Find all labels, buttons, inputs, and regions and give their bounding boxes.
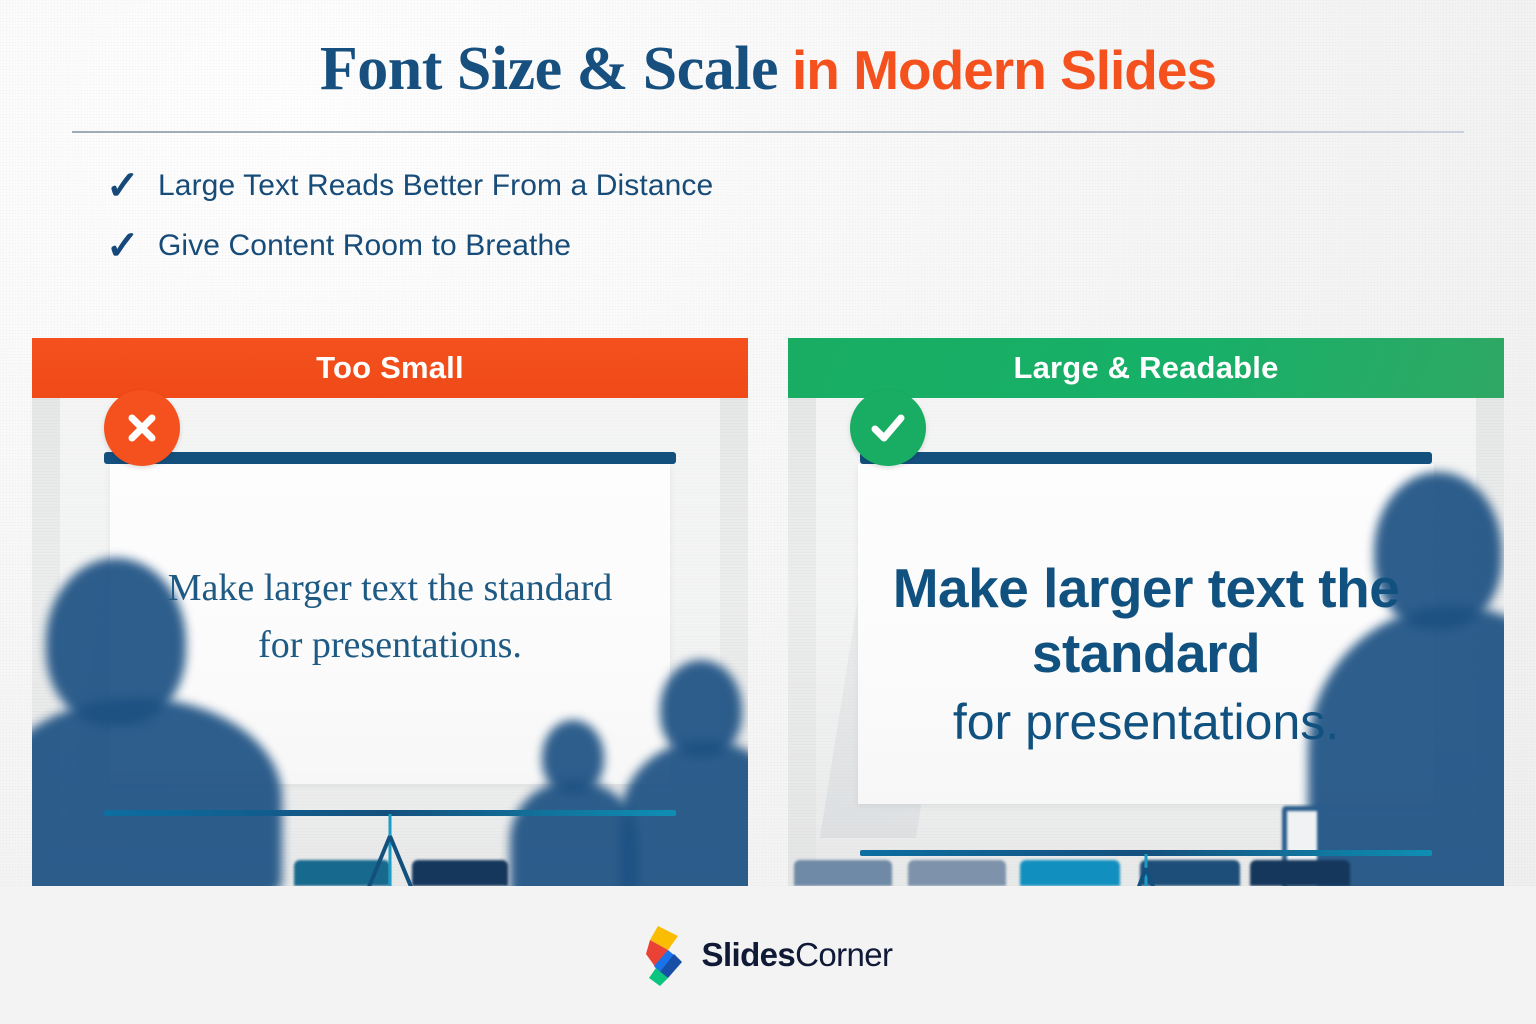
footer-section: SlidesCorner xyxy=(0,886,1536,1024)
laptop-shape xyxy=(794,860,892,886)
close-icon xyxy=(122,408,162,448)
laptop-shape xyxy=(1020,860,1120,886)
slide-text-bold: Make larger text the standard xyxy=(888,556,1404,686)
laptop-shape xyxy=(412,860,508,886)
title-part-primary: Font Size & Scale xyxy=(320,35,778,103)
panel-left-photo: Make larger text the standard for presen… xyxy=(32,398,748,886)
panel-large-readable: Large & Readable Make larger text the st… xyxy=(788,338,1504,886)
check-icon: ✓ xyxy=(106,226,158,266)
laptop-shape xyxy=(908,860,1006,886)
tripod-icon xyxy=(360,814,420,886)
cross-badge xyxy=(104,390,180,466)
list-item: ✓ Large Text Reads Better From a Distanc… xyxy=(106,166,713,206)
list-item: ✓ Give Content Room to Breathe xyxy=(106,226,713,266)
screen-top-bar xyxy=(104,452,676,464)
slidescorner-logo-icon xyxy=(644,924,686,986)
slide-text-small: Make larger text the standard for presen… xyxy=(32,560,748,674)
page-title: Font Size & Scalein Modern Slides xyxy=(0,34,1536,105)
panel-right-heading: Large & Readable xyxy=(788,338,1504,398)
comparison-panels: Too Small Make larger text the standard … xyxy=(0,338,1536,886)
brand-name-primary: Slides xyxy=(702,936,796,973)
brand-name: SlidesCorner xyxy=(702,936,893,974)
panel-right-photo: Make larger text the standard for presen… xyxy=(788,398,1504,886)
check-icon xyxy=(866,406,910,450)
brand-name-secondary: Corner xyxy=(795,936,892,973)
bullet-label: Give Content Room to Breathe xyxy=(158,229,571,263)
check-icon: ✓ xyxy=(106,166,158,206)
slide-text-regular: for presentations. xyxy=(888,692,1404,752)
brand-logo[interactable]: SlidesCorner xyxy=(644,924,893,986)
tripod-icon xyxy=(1116,854,1176,886)
panel-left-heading: Too Small xyxy=(32,338,748,398)
screen-top-bar xyxy=(860,452,1432,464)
panel-too-small: Too Small Make larger text the standard … xyxy=(32,338,748,886)
title-part-accent: in Modern Slides xyxy=(792,39,1216,101)
check-badge xyxy=(850,390,926,466)
laptop-shape xyxy=(1250,860,1350,886)
slide-text-large: Make larger text the standard for presen… xyxy=(788,556,1504,752)
title-divider xyxy=(72,131,1464,133)
header-section: Font Size & Scalein Modern Slides ✓ Larg… xyxy=(0,0,1536,300)
bullet-label: Large Text Reads Better From a Distance xyxy=(158,169,713,203)
bullet-list: ✓ Large Text Reads Better From a Distanc… xyxy=(106,166,713,286)
